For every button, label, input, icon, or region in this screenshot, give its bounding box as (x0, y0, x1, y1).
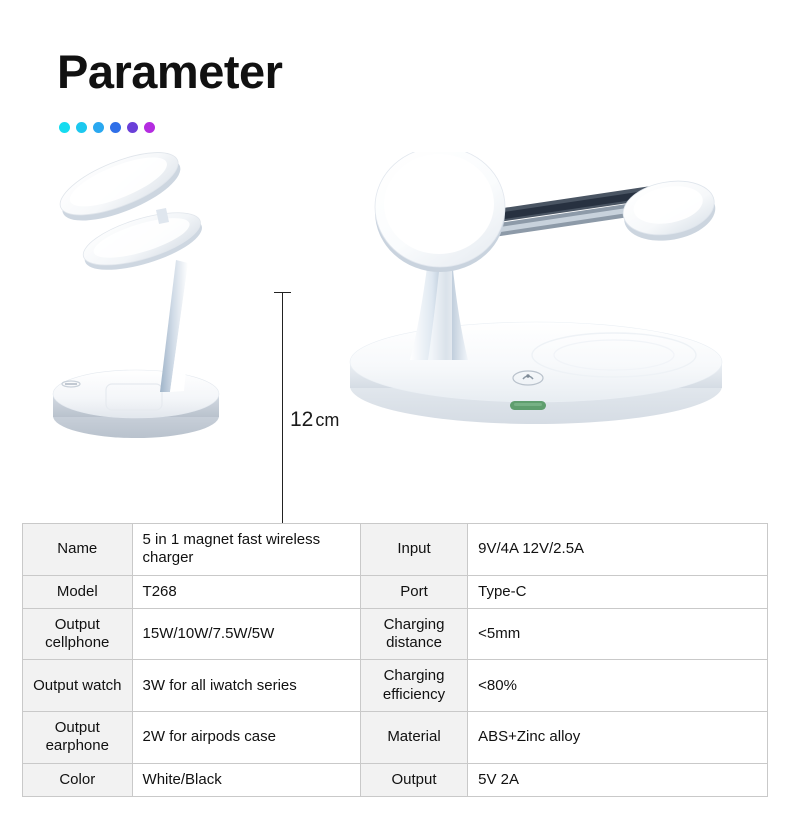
dot-6-icon (144, 122, 155, 133)
product-image-side-view (38, 148, 268, 448)
spec-key: Output earphone (23, 712, 133, 764)
table-row: Output earphone 2W for airpods case Mate… (23, 712, 768, 764)
spec-key: Output (360, 763, 467, 796)
spec-value: <5mm (468, 608, 768, 660)
spec-key: Port (360, 575, 467, 608)
spec-key: Model (23, 575, 133, 608)
dot-3-icon (93, 122, 104, 133)
magsafe-pad (375, 152, 505, 272)
spec-key: Color (23, 763, 133, 796)
spec-value: ABS+Zinc alloy (468, 712, 768, 764)
spec-key: Input (360, 524, 467, 576)
specification-table-body: Name 5 in 1 magnet fast wireless charger… (23, 524, 768, 797)
spec-value: White/Black (132, 763, 360, 796)
table-row: Output cellphone 15W/10W/7.5W/5W Chargin… (23, 608, 768, 660)
spec-key: Charging efficiency (360, 660, 467, 712)
watch-charger-puck (619, 174, 720, 247)
spec-value: 3W for all iwatch series (132, 660, 360, 712)
specification-table: Name 5 in 1 magnet fast wireless charger… (22, 523, 768, 797)
product-showcase: 12cm 8.5cm 17.5cm (0, 140, 790, 500)
decorative-dot-row (59, 122, 155, 133)
spec-key: Output cellphone (23, 608, 133, 660)
dimension-label-height: 12cm (290, 408, 339, 432)
spec-key: Material (360, 712, 467, 764)
product-image-front-view (340, 152, 740, 444)
dot-2-icon (76, 122, 87, 133)
page-title: Parameter (57, 48, 282, 95)
dimension-height-value: 12 (290, 408, 313, 431)
dimension-height-unit: cm (315, 410, 339, 430)
table-row: Name 5 in 1 magnet fast wireless charger… (23, 524, 768, 576)
spec-value: 5 in 1 magnet fast wireless charger (132, 524, 360, 576)
spec-value: 2W for airpods case (132, 712, 360, 764)
spec-key: Name (23, 524, 133, 576)
spec-value: Type-C (468, 575, 768, 608)
spec-value: 5V 2A (468, 763, 768, 796)
dot-5-icon (127, 122, 138, 133)
spec-key: Charging distance (360, 608, 467, 660)
table-row: Color White/Black Output 5V 2A (23, 763, 768, 796)
dot-4-icon (110, 122, 121, 133)
dot-1-icon (59, 122, 70, 133)
spec-key: Output watch (23, 660, 133, 712)
spec-value: <80% (468, 660, 768, 712)
table-row: Output watch 3W for all iwatch series Ch… (23, 660, 768, 712)
table-row: Model T268 Port Type-C (23, 575, 768, 608)
spec-value: T268 (132, 575, 360, 608)
spec-value: 15W/10W/7.5W/5W (132, 608, 360, 660)
spec-value: 9V/4A 12V/2.5A (468, 524, 768, 576)
